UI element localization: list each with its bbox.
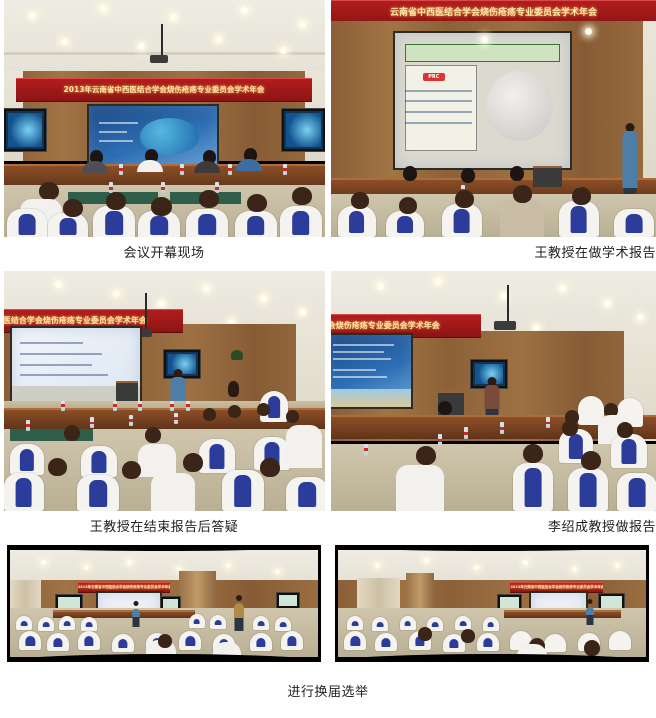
photo-row-2: 西医结合学会烧伤疮疡专业委员会学术年会 [0, 271, 656, 545]
photo-caption-professor-li-lecture: 李绍成教授做报告 [548, 511, 656, 545]
photo-caption-opening-ceremony: 会议开幕现场 [123, 237, 204, 271]
photo-gallery: 2013年云南省中西医结合学会烧伤疮疡专业委员会学术年会 [0, 0, 656, 710]
photo-election-panorama-right[interactable]: 2013年云南省中西医结合学会烧伤疮疡专业委员会学术年会 [335, 545, 649, 662]
photo-cell-opening-ceremony: 2013年云南省中西医结合学会烧伤疮疡专业委员会学术年会 [0, 0, 328, 271]
photo-caption-election: 进行换届选举 [0, 662, 656, 710]
photo-caption-professor-wang-lecture: 王教授在做学术报告 [534, 237, 656, 271]
photo-row-1: 2013年云南省中西医结合学会烧伤疮疡专业委员会学术年会 [0, 0, 656, 271]
photo-professor-wang-lecture[interactable]: 云南省中西医结合学会烧伤疮疡专业委员会学术年会 PRC [331, 0, 656, 237]
photo-row-3: 2013年云南省中西医结合学会烧伤疮疡专业委员会学术年会 [0, 545, 656, 662]
photo-election-panorama-left[interactable]: 2013年云南省中西医结合学会烧伤疮疡专业委员会学术年会 [7, 545, 321, 662]
hall-banner: 2013年云南省中西医结合学会烧伤疮疡专业委员会学术年会 [16, 78, 311, 101]
photo-professor-li-lecture[interactable]: 学会烧伤疮疡专业委员会学术年会 [331, 271, 656, 511]
photo-cell-professor-wang-lecture: 云南省中西医结合学会烧伤疮疡专业委员会学术年会 PRC [328, 0, 656, 271]
photo-question-and-answer[interactable]: 西医结合学会烧伤疮疡专业委员会学术年会 [4, 271, 325, 511]
photo-opening-ceremony[interactable]: 2013年云南省中西医结合学会烧伤疮疡专业委员会学术年会 [4, 0, 325, 237]
photo-cell-question-and-answer: 西医结合学会烧伤疮疡专业委员会学术年会 [0, 271, 328, 545]
photo-cell-professor-li-lecture: 学会烧伤疮疡专业委员会学术年会 [328, 271, 656, 545]
photo-caption-question-and-answer: 王教授在结束报告后答疑 [90, 511, 239, 545]
slide-prc-label: PRC [423, 73, 445, 81]
